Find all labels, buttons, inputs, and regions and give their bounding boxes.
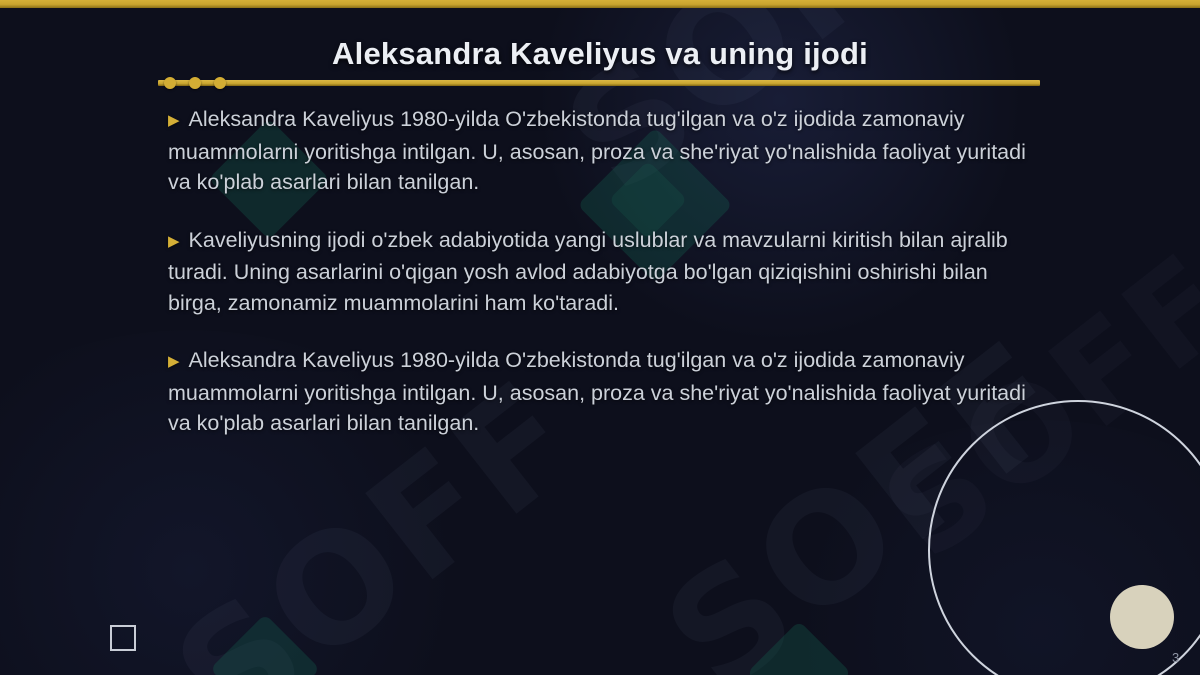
page-number: 3: [1172, 650, 1179, 665]
green-diamond-icon: [210, 614, 320, 675]
top-accent-bar: [0, 0, 1200, 8]
rule-dot-icon: [164, 77, 176, 89]
bullet-paragraph: ▶Kaveliyusning ijodi o'zbek adabiyotida …: [168, 225, 1038, 319]
slide-title: Aleksandra Kaveliyus va uning ijodi: [0, 36, 1200, 72]
rule-dot-icon: [214, 77, 226, 89]
title-underline-rule: [158, 80, 1040, 86]
rule-dot-icon: [189, 77, 201, 89]
body-content: ▶Aleksandra Kaveliyus 1980-yilda O'zbeki…: [168, 104, 1038, 466]
bullet-arrow-icon: ▶: [168, 112, 180, 129]
bullet-arrow-icon: ▶: [168, 233, 180, 250]
bullet-paragraph: ▶Aleksandra Kaveliyus 1980-yilda O'zbeki…: [168, 104, 1038, 198]
bullet-paragraph-text: Kaveliyusning ijodi o'zbek adabiyotida y…: [168, 228, 1008, 315]
slide-canvas: SOFF SOFF SOFF SOFF Aleksandra Kaveliyus…: [0, 0, 1200, 675]
decorative-filled-circle: [1110, 585, 1174, 649]
bullet-arrow-icon: ▶: [168, 353, 180, 370]
decorative-square-outline: [110, 625, 136, 651]
bullet-paragraph-text: Aleksandra Kaveliyus 1980-yilda O'zbekis…: [168, 107, 1026, 194]
bullet-paragraph: ▶Aleksandra Kaveliyus 1980-yilda O'zbeki…: [168, 345, 1038, 439]
bullet-paragraph-text: Aleksandra Kaveliyus 1980-yilda O'zbekis…: [168, 348, 1026, 435]
green-diamond-icon: [747, 621, 852, 675]
